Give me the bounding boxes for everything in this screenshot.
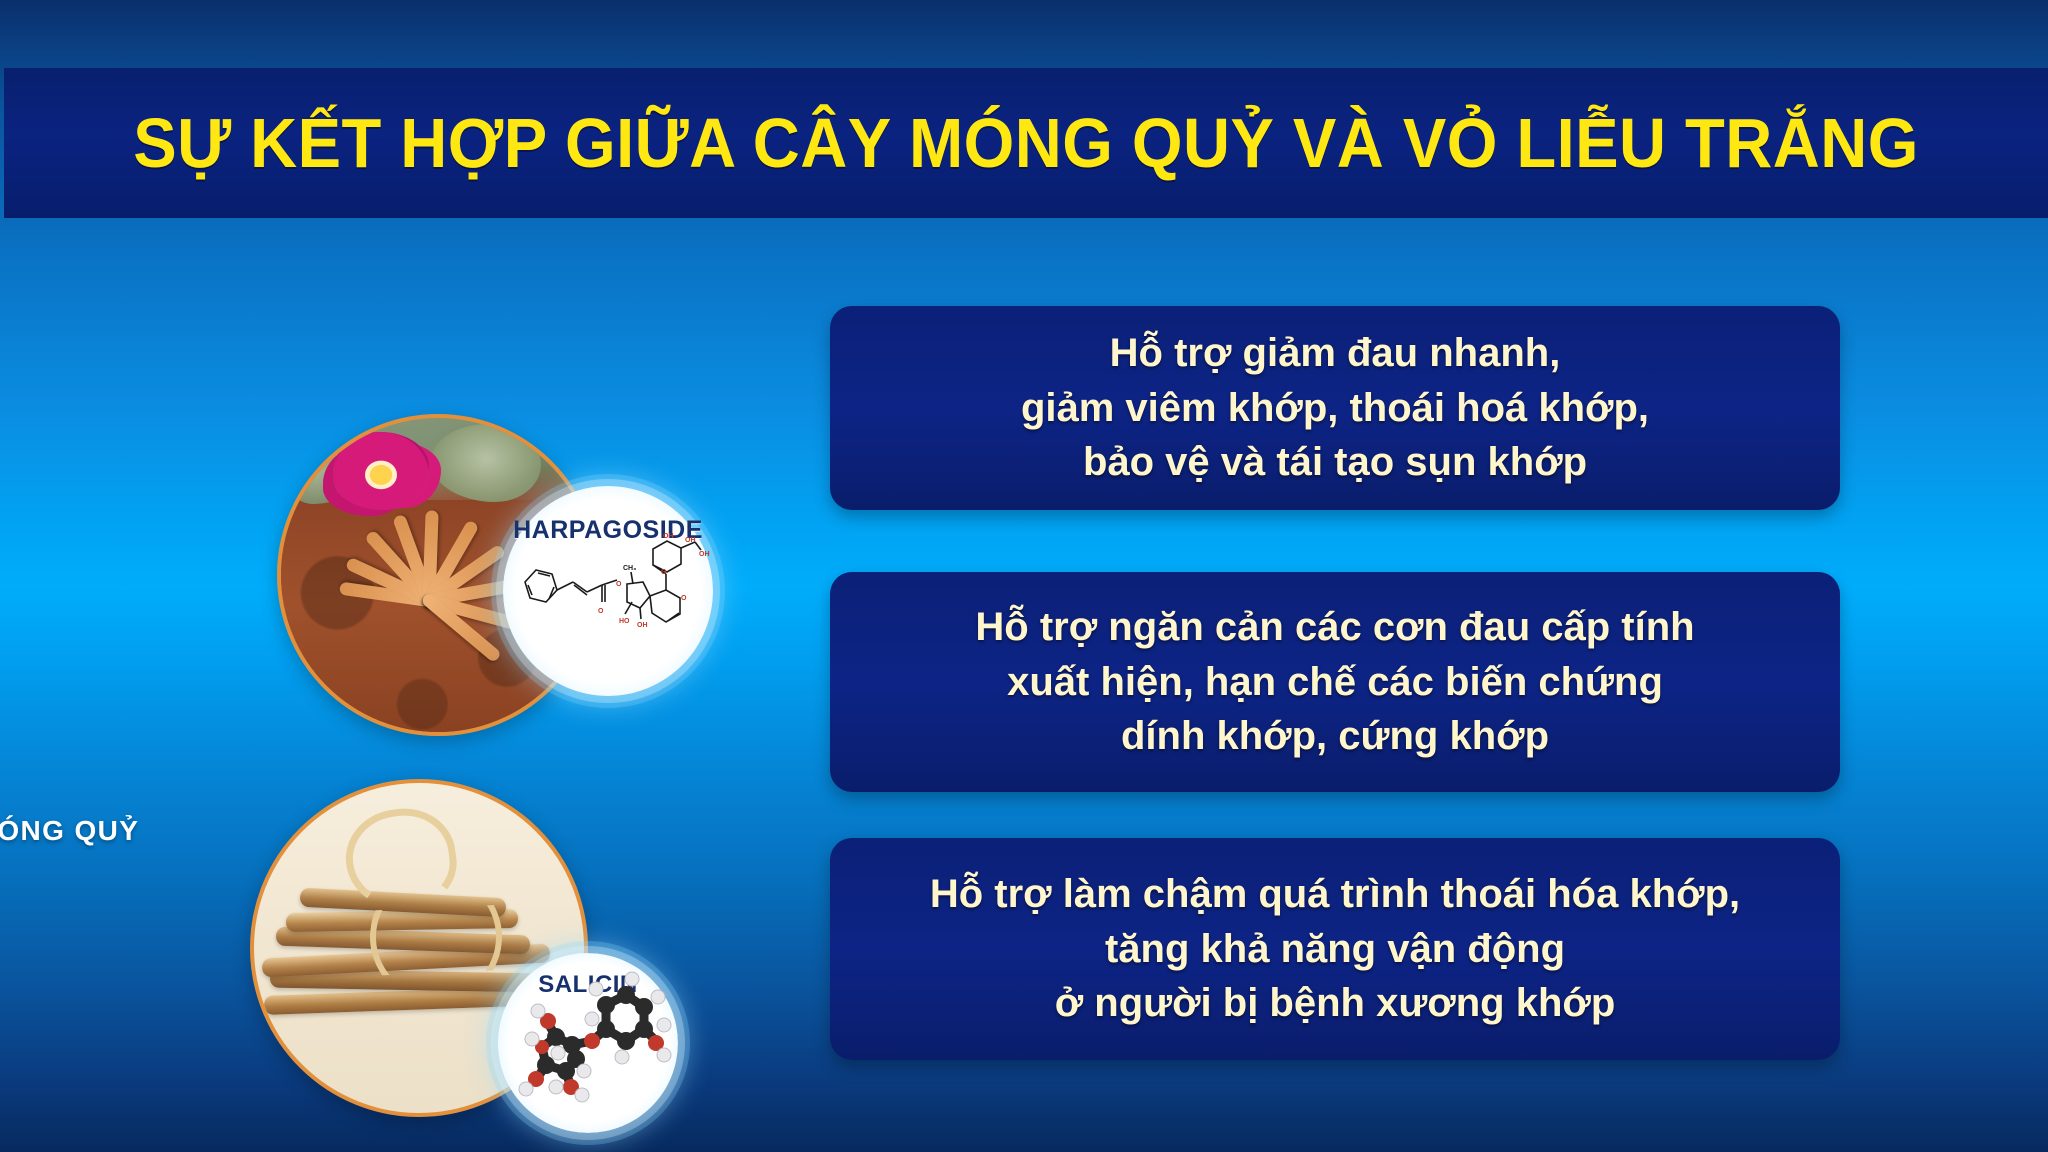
flower-icon — [333, 432, 429, 510]
svg-text:OH: OH — [685, 537, 696, 544]
svg-text:O: O — [661, 569, 667, 576]
title-banner: SỰ KẾT HỢP GIỮA CÂY MÓNG QUỶ VÀ VỎ LIỄU … — [4, 68, 2048, 218]
benefit-box-1: Hỗ trợ giảm đau nhanh,giảm viêm khớp, th… — [830, 306, 1840, 510]
svg-text:OH: OH — [637, 622, 648, 629]
svg-text:OH: OH — [699, 551, 710, 558]
salicin-structure-icon — [498, 953, 678, 1133]
svg-text:O: O — [681, 595, 687, 602]
svg-text:HO: HO — [619, 618, 630, 625]
ingredients-column: HARPAGOSIDE — [0, 218, 820, 1152]
benefit-box-2: Hỗ trợ ngăn cản các cơn đau cấp tínhxuất… — [830, 572, 1840, 792]
page-title: SỰ KẾT HỢP GIỮA CÂY MÓNG QUỶ VÀ VỎ LIỄU … — [133, 103, 1919, 183]
infographic-root: SỰ KẾT HỢP GIỮA CÂY MÓNG QUỶ VÀ VỎ LIỄU … — [0, 0, 2048, 1152]
benefit-box-3: Hỗ trợ làm chậm quá trình thoái hóa khớp… — [830, 838, 1840, 1060]
svg-text:O: O — [616, 581, 622, 588]
svg-text:O: O — [598, 608, 604, 615]
benefit-text-2: Hỗ trợ ngăn cản các cơn đau cấp tínhxuất… — [949, 600, 1720, 764]
benefit-text-3: Hỗ trợ làm chậm quá trình thoái hóa khớp… — [904, 867, 1766, 1031]
harpagoside-badge: HARPAGOSIDE — [503, 486, 713, 696]
benefit-text-1: Hỗ trợ giảm đau nhanh,giảm viêm khớp, th… — [995, 326, 1675, 490]
svg-text:CH₃: CH₃ — [623, 565, 636, 572]
svg-text:OH: OH — [663, 533, 674, 540]
salicin-badge: SALICIN — [498, 953, 678, 1133]
harpagoside-structure-icon: O O O O OH HO OH OH OH CH₃ — [503, 486, 713, 696]
